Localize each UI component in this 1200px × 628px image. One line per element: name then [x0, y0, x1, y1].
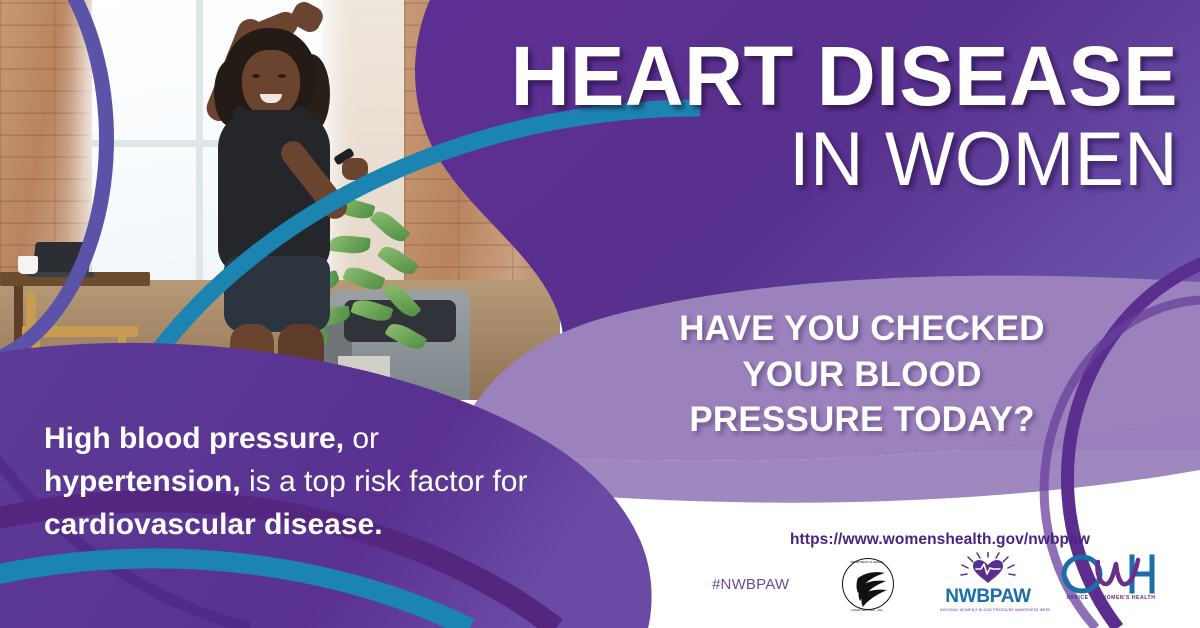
nwbpaw-tagline: NATIONAL WOMEN'S BLOOD PRESSURE AWARENES… [940, 608, 1036, 612]
subhead-line-2: YOUR BLOOD [612, 352, 1112, 398]
owh-tagline: OFFICE ON WOMEN'S HEALTH [1054, 595, 1168, 601]
body-bold-3: cardiovascular disease. [44, 508, 383, 541]
body-bold-1: High blood pressure, [44, 422, 344, 455]
subheadline: HAVE YOU CHECKED YOUR BLOOD PRESSURE TOD… [612, 306, 1112, 443]
body-plain-1: or [344, 422, 379, 455]
body-plain-2: is a top risk factor for [241, 465, 528, 498]
owh-monogram-icon [1054, 554, 1168, 594]
owh-logo: OFFICE ON WOMEN'S HEALTH [1054, 554, 1168, 612]
body-bold-2: hypertension, [44, 465, 241, 498]
poster-title: HEART DISEASE IN WOMEN [418, 36, 1178, 198]
body-copy: High blood pressure, or hypertension, is… [44, 418, 584, 547]
campaign-hashtag: #NWBPAW [712, 576, 789, 593]
subhead-line-1: HAVE YOU CHECKED [612, 306, 1112, 352]
heart-pulse-icon [940, 552, 1036, 586]
nwbpaw-logo: NWBPAW NATIONAL WOMEN'S BLOOD PRESSURE A… [940, 552, 1036, 614]
campaign-poster: HEART DISEASE IN WOMEN HAVE YOU CHECKED … [0, 0, 1200, 628]
title-line-2: IN WOMEN [441, 121, 1178, 199]
subhead-line-3: PRESSURE TODAY? [612, 397, 1112, 443]
title-line-1: HEART DISEASE [441, 36, 1178, 117]
campaign-url[interactable]: https://www.womenshealth.gov/nwbpaw [700, 531, 1180, 549]
hhs-seal-logo: DEPARTMENT OF HEALTH HUMAN SERVICES · US… [836, 556, 898, 614]
nwbpaw-wordmark: NWBPAW [940, 587, 1036, 606]
